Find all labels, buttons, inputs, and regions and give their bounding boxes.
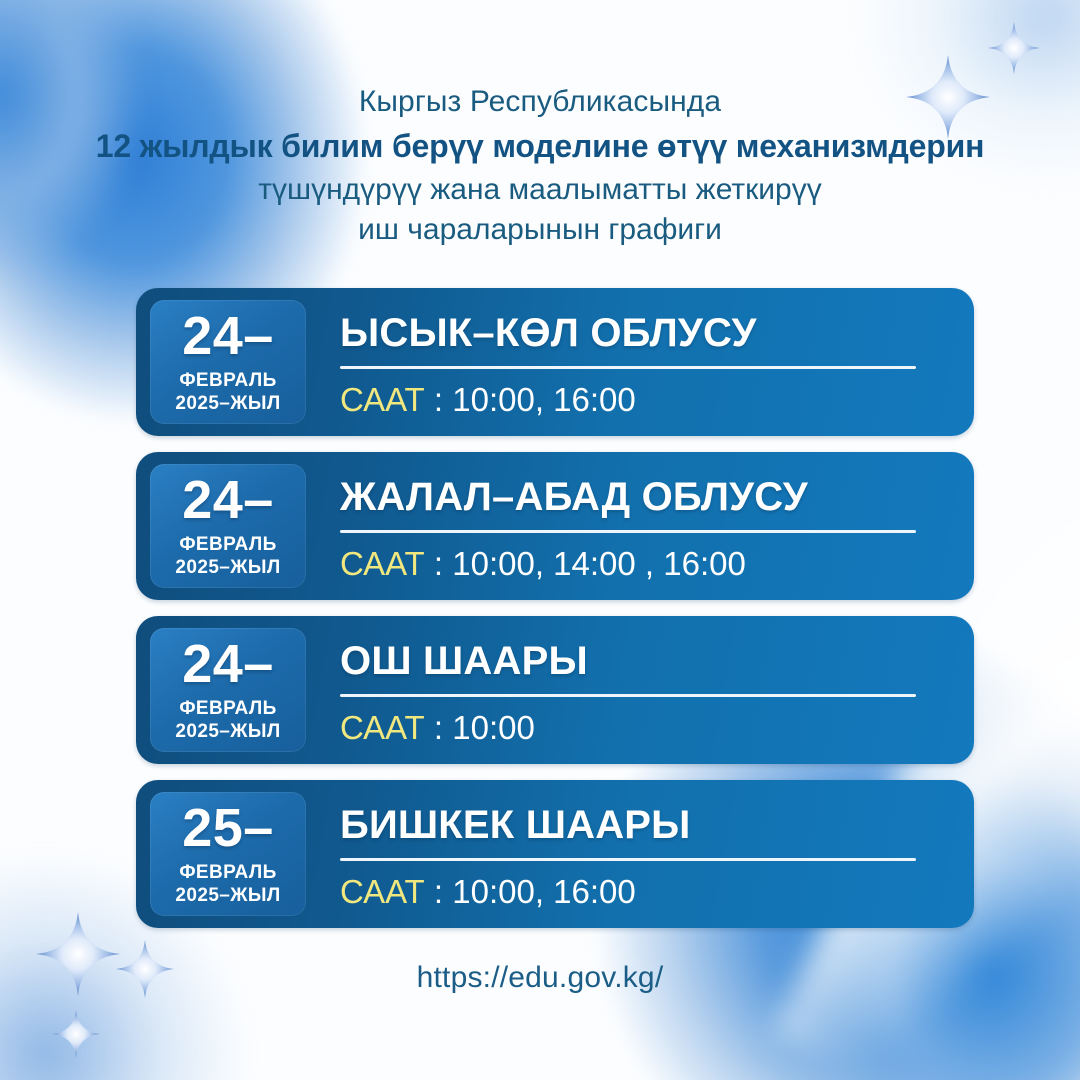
time-values: 10:00, 14:00 , 16:00 xyxy=(452,545,746,582)
card-divider xyxy=(340,694,916,697)
schedule-card[interactable]: 24–ФЕВРАЛЬ2025–ЖЫЛЫСЫК–КӨЛ ОБЛУСУСААТ : … xyxy=(136,288,974,436)
schedule-card[interactable]: 25–ФЕВРАЛЬ2025–ЖЫЛБИШКЕК ШААРЫСААТ : 10:… xyxy=(136,780,974,928)
header-line-1: Кыргыз Республикасында xyxy=(0,82,1080,122)
time-separator: : xyxy=(434,873,443,910)
time-row: СААТ : 10:00, 16:00 xyxy=(340,381,916,419)
header-line-2: 12 жылдык билим берүү моделине өтүү меха… xyxy=(0,124,1080,168)
header-line-4: иш чараларынын графиги xyxy=(0,210,1080,250)
poster-canvas: Кыргыз Республикасында 12 жылдык билим б… xyxy=(0,0,1080,1080)
time-row: СААТ : 10:00, 16:00 xyxy=(340,873,916,911)
time-separator: : xyxy=(434,381,443,418)
date-year: 2025–ЖЫЛ xyxy=(175,884,280,907)
time-label: СААТ xyxy=(340,381,425,418)
sparkle-bottom-left-small-icon xyxy=(52,1010,100,1058)
time-values: 10:00 xyxy=(452,709,535,746)
time-label: СААТ xyxy=(340,545,425,582)
time-values: 10:00, 16:00 xyxy=(452,873,636,910)
date-month: ФЕВРАЛЬ xyxy=(179,697,276,720)
date-year: 2025–ЖЫЛ xyxy=(175,392,280,415)
schedule-card[interactable]: 24–ФЕВРАЛЬ2025–ЖЫЛОШ ШААРЫСААТ : 10:00 xyxy=(136,616,974,764)
schedule-card[interactable]: 24–ФЕВРАЛЬ2025–ЖЫЛЖАЛАЛ–АБАД ОБЛУСУСААТ … xyxy=(136,452,974,600)
card-body: ЫСЫК–КӨЛ ОБЛУСУСААТ : 10:00, 16:00 xyxy=(306,288,974,436)
region-name: БИШКЕК ШААРЫ xyxy=(340,802,916,848)
poster-footer: https://edu.gov.kg/ xyxy=(0,958,1080,998)
website-url[interactable]: https://edu.gov.kg/ xyxy=(0,958,1080,998)
date-year: 2025–ЖЫЛ xyxy=(175,720,280,743)
time-row: СААТ : 10:00 xyxy=(340,709,916,747)
card-body: ЖАЛАЛ–АБАД ОБЛУСУСААТ : 10:00, 14:00 , 1… xyxy=(306,452,974,600)
time-values: 10:00, 16:00 xyxy=(452,381,636,418)
date-badge: 24–ФЕВРАЛЬ2025–ЖЫЛ xyxy=(150,464,306,588)
poster-header: Кыргыз Республикасында 12 жылдык билим б… xyxy=(0,82,1080,250)
region-name: ОШ ШААРЫ xyxy=(340,638,916,684)
date-badge: 24–ФЕВРАЛЬ2025–ЖЫЛ xyxy=(150,300,306,424)
region-name: ЫСЫК–КӨЛ ОБЛУСУ xyxy=(340,310,916,356)
date-year: 2025–ЖЫЛ xyxy=(175,556,280,579)
time-label: СААТ xyxy=(340,873,425,910)
date-day: 24– xyxy=(182,638,274,690)
card-body: ОШ ШААРЫСААТ : 10:00 xyxy=(306,616,974,764)
time-separator: : xyxy=(434,709,443,746)
card-divider xyxy=(340,530,916,533)
time-separator: : xyxy=(434,545,443,582)
date-badge: 25–ФЕВРАЛЬ2025–ЖЫЛ xyxy=(150,792,306,916)
sparkle-top-right-small-icon xyxy=(988,22,1040,74)
time-row: СААТ : 10:00, 14:00 , 16:00 xyxy=(340,545,916,583)
date-month: ФЕВРАЛЬ xyxy=(179,369,276,392)
card-body: БИШКЕК ШААРЫСААТ : 10:00, 16:00 xyxy=(306,780,974,928)
date-day: 25– xyxy=(182,802,274,854)
date-month: ФЕВРАЛЬ xyxy=(179,533,276,556)
region-name: ЖАЛАЛ–АБАД ОБЛУСУ xyxy=(340,474,916,520)
card-divider xyxy=(340,858,916,861)
date-day: 24– xyxy=(182,310,274,362)
date-month: ФЕВРАЛЬ xyxy=(179,861,276,884)
time-label: СААТ xyxy=(340,709,425,746)
date-day: 24– xyxy=(182,474,274,526)
date-badge: 24–ФЕВРАЛЬ2025–ЖЫЛ xyxy=(150,628,306,752)
schedule-list: 24–ФЕВРАЛЬ2025–ЖЫЛЫСЫК–КӨЛ ОБЛУСУСААТ : … xyxy=(136,288,974,944)
card-divider xyxy=(340,366,916,369)
header-line-3: түшүндүрүү жана маалыматты жеткирүү xyxy=(0,170,1080,210)
